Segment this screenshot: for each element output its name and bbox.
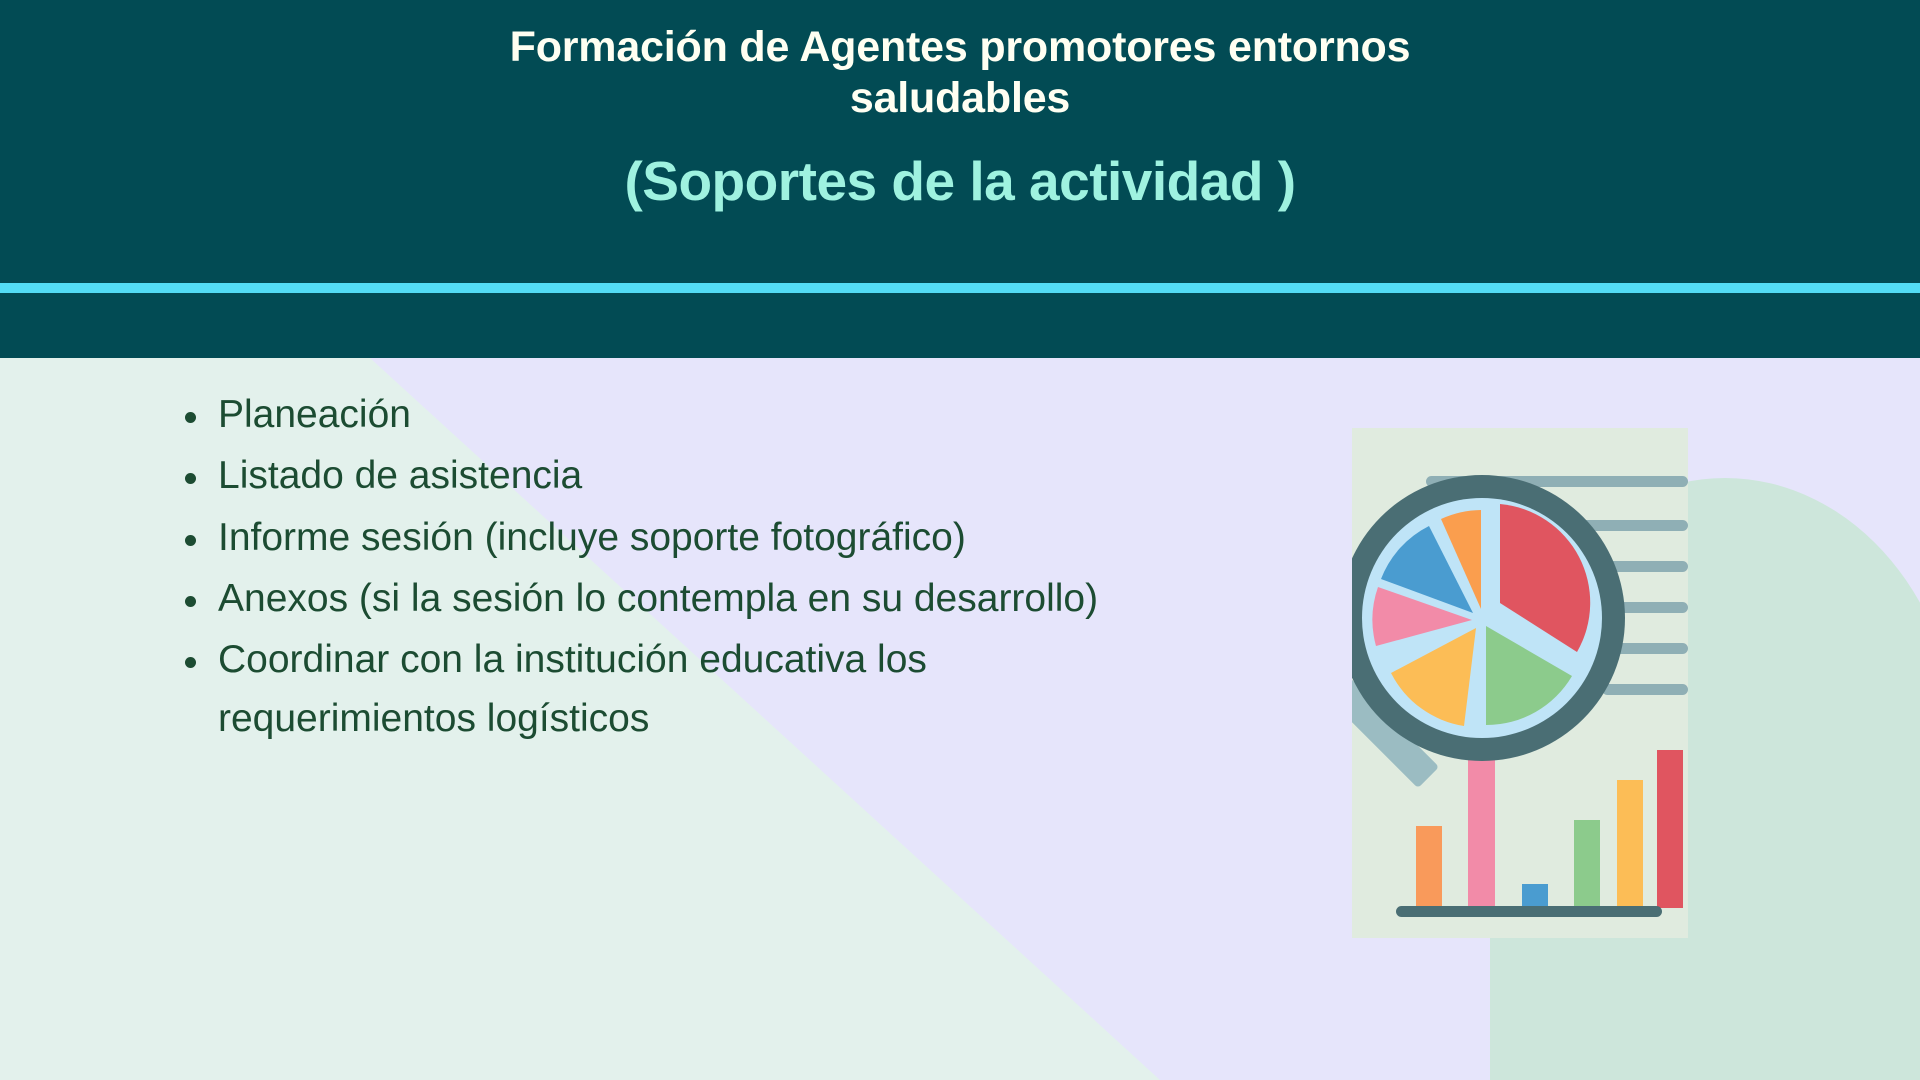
list-item-label: Informe sesión (incluye soporte fotográf…	[218, 508, 1145, 567]
header-divider-line	[0, 283, 1920, 293]
page-title-line-1: Formación de Agentes promotores entornos	[350, 22, 1570, 73]
list-item: Planeación	[185, 385, 1145, 444]
list-item: Listado de asistencia	[185, 446, 1145, 505]
list-item-label: Planeación	[218, 385, 1145, 444]
bullet-list: Planeación Listado de asistencia Informe…	[185, 385, 1145, 751]
list-item: Coordinar con la institución educativa l…	[185, 630, 1145, 749]
bar-2	[1468, 736, 1495, 908]
list-item-label: Anexos (si la sesión lo contempla en su …	[218, 569, 1145, 628]
title-block: Formación de Agentes promotores entornos…	[0, 22, 1920, 212]
list-item: Anexos (si la sesión lo contempla en su …	[185, 569, 1145, 628]
list-item-label: Listado de asistencia	[218, 446, 1145, 505]
bar-1	[1416, 826, 1442, 908]
bullet-dot-icon	[185, 535, 196, 546]
document-analysis-illustration	[1352, 428, 1772, 980]
bar-5	[1617, 780, 1643, 908]
page-subtitle: (Soportes de la actividad )	[0, 151, 1920, 212]
list-item: Informe sesión (incluye soporte fotográf…	[185, 508, 1145, 567]
bullet-dot-icon	[185, 596, 196, 607]
bar-3	[1522, 884, 1548, 908]
bar-4	[1574, 820, 1600, 908]
bullet-dot-icon	[185, 473, 196, 484]
bar-6	[1657, 750, 1683, 908]
slide-header: Formación de Agentes promotores entornos…	[0, 0, 1920, 358]
bullet-dot-icon	[185, 412, 196, 423]
page-title-line-2: saludables	[350, 73, 1570, 124]
slide-root: Formación de Agentes promotores entornos…	[0, 0, 1920, 1080]
list-item-label: Coordinar con la institución educativa l…	[218, 630, 1145, 749]
bullet-dot-icon	[185, 657, 196, 668]
bar-chart-baseline	[1396, 906, 1662, 917]
